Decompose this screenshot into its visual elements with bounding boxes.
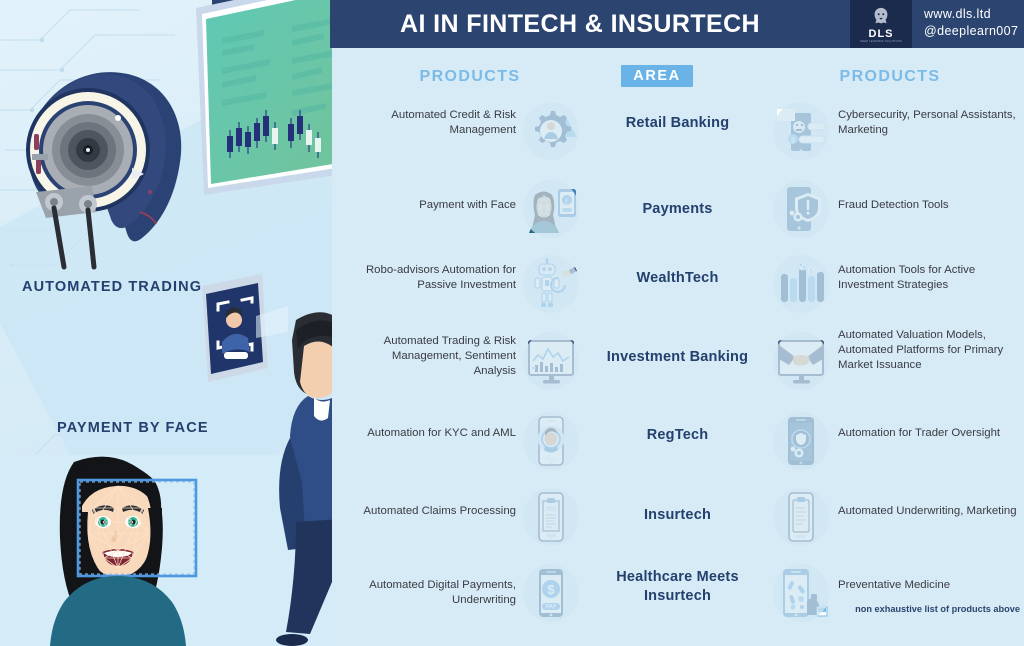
phone-pills-icon[interactable]	[770, 562, 832, 624]
icon-background	[773, 180, 829, 238]
monitor-chart-icon[interactable]	[520, 330, 582, 392]
area-label: Healthcare Meets Insurtech	[585, 568, 770, 606]
table-row: Automated Claims Processing Insurtech	[330, 484, 1024, 556]
icon-background	[773, 564, 829, 622]
logo-tagline: DEEP LEARNING SOLUTIONS	[860, 40, 901, 43]
payment-by-face-label: PAYMENT BY FACE	[57, 420, 209, 436]
table-row: Automated Trading & Risk Management, Sen…	[330, 326, 1024, 398]
face-payment-icon[interactable]: £	[520, 178, 582, 240]
icon-background	[773, 332, 829, 390]
social-handle[interactable]: @deeplearn007	[924, 23, 1018, 40]
logo-text: DLS	[869, 29, 894, 40]
area-label: Insurtech	[585, 506, 770, 525]
icon-background	[523, 102, 579, 160]
left-illustration-panel: AUTOMATED TRADING PAYMENT BY FACE	[0, 0, 332, 646]
area-label: WealthTech	[585, 269, 770, 288]
clipboard-icon[interactable]	[770, 486, 832, 548]
table-row: Payment with Face £ Payments	[330, 178, 1024, 250]
right-product-text: Automated Underwriting, Marketing	[838, 504, 1024, 519]
icon-background	[523, 488, 579, 546]
column-header-left-products: PRODUCTS	[380, 68, 560, 86]
icon-background	[773, 412, 829, 470]
header-contact-links: www.dls.ltd @deeplearn007	[924, 6, 1018, 40]
column-header-area: AREA	[621, 65, 693, 87]
left-product-text: Automation for KYC and AML	[348, 426, 516, 441]
area-label: Investment Banking	[585, 348, 770, 367]
right-product-text: Cybersecurity, Personal Assistants, Mark…	[838, 108, 1024, 138]
monitor-handshake-icon[interactable]	[770, 330, 832, 392]
trading-monitor-illustration	[196, 0, 332, 205]
left-product-text: Automated Digital Payments, Underwriting	[348, 578, 516, 608]
icon-background	[523, 564, 579, 622]
left-product-text: Automated Trading & Risk Management, Sen…	[348, 334, 516, 380]
infographic-page: AUTOMATED TRADING PAYMENT BY FACE AI IN …	[0, 0, 1024, 646]
right-product-text: Automated Valuation Models, Automated Pl…	[838, 328, 1024, 374]
robot-handshake-icon[interactable]	[520, 253, 582, 315]
bar-chart-icon[interactable]: $	[770, 253, 832, 315]
page-header: AI IN FINTECH & INSURTECH DLS DEEP LEARN…	[330, 0, 1024, 48]
table-row: Automated Credit & Risk Management ! Ret…	[330, 100, 1024, 172]
area-label: Payments	[585, 200, 770, 219]
right-product-text: Automation Tools for Active Investment S…	[838, 263, 1024, 293]
footnote-text: non exhaustive list of products above	[830, 604, 1020, 614]
table-row: Robo-advisors Automation for Passive Inv…	[330, 253, 1024, 325]
robot-head-illustration	[20, 62, 210, 267]
phone-pay-icon[interactable]: $ PAY	[520, 562, 582, 624]
phone-face-id-icon[interactable]	[520, 410, 582, 472]
icon-background	[773, 102, 829, 160]
dls-logo: DLS DEEP LEARNING SOLUTIONS	[850, 0, 912, 48]
page-title: AI IN FINTECH & INSURTECH	[330, 0, 830, 48]
left-product-text: Automated Claims Processing	[348, 504, 516, 519]
left-product-text: Payment with Face	[348, 198, 516, 213]
right-product-text: Preventative Medicine	[838, 578, 1024, 593]
gear-person-icon[interactable]: !	[520, 100, 582, 162]
icon-background	[773, 488, 829, 546]
lion-icon	[870, 6, 892, 28]
icon-background	[523, 332, 579, 390]
right-product-text: Fraud Detection Tools	[838, 198, 1024, 213]
phone-shield-alert-icon[interactable]	[770, 178, 832, 240]
website-link[interactable]: www.dls.ltd	[924, 6, 1018, 23]
area-label: Retail Banking	[585, 114, 770, 133]
phone-shield-gear-icon[interactable]	[770, 410, 832, 472]
left-product-text: Automated Credit & Risk Management	[348, 108, 516, 138]
column-header-right-products: PRODUCTS	[800, 68, 980, 86]
comparison-grid: PRODUCTS AREA PRODUCTS Automated Credit …	[330, 48, 1024, 646]
icon-background	[523, 180, 579, 238]
table-row: Automation for KYC and AML RegTech	[330, 408, 1024, 480]
icon-background	[523, 255, 579, 313]
phone-document-icon[interactable]	[520, 486, 582, 548]
icon-background	[773, 255, 829, 313]
table-row: Automated Digital Payments, Underwriting…	[330, 560, 1024, 632]
area-label: RegTech	[585, 426, 770, 445]
phone-chatbot-icon[interactable]: $	[770, 100, 832, 162]
face-recognition-woman-illustration	[18, 452, 218, 646]
left-product-text: Robo-advisors Automation for Passive Inv…	[348, 263, 516, 293]
icon-background	[523, 412, 579, 470]
standing-man-illustration	[252, 300, 332, 646]
automated-trading-label: AUTOMATED TRADING	[22, 279, 202, 295]
right-product-text: Automation for Trader Oversight	[838, 426, 1024, 441]
